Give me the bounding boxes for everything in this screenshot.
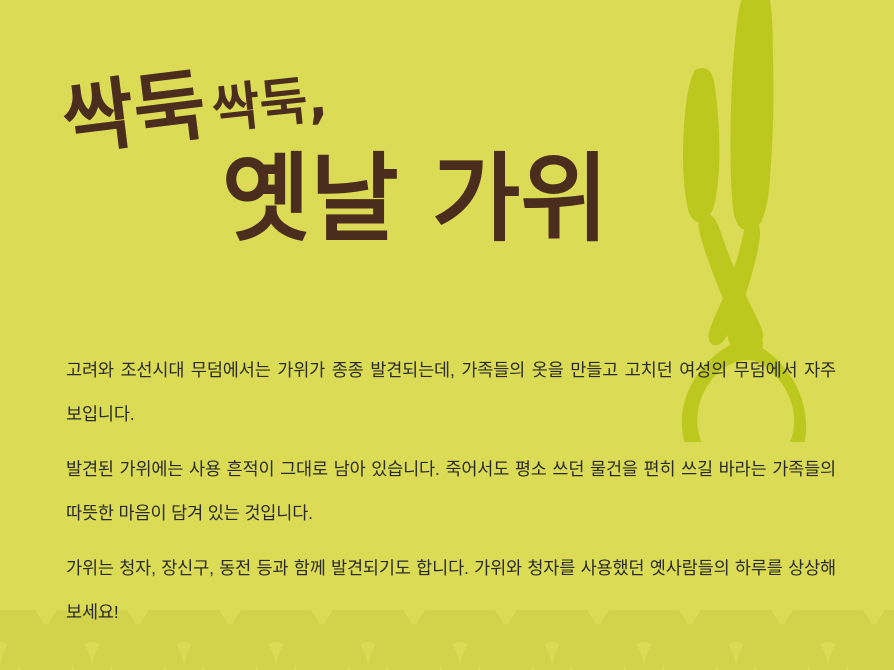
title-line1-small: 싹둑, [209,69,330,141]
poster-canvas: 싹둑 싹둑, 옛날 가위 고려와 조선시대 무덤에서는 가위가 종종 발견되는데… [0,0,894,670]
title-line1-main: 싹둑 [57,60,210,167]
title-artwork: 싹둑 싹둑, 옛날 가위 [0,0,700,270]
paragraph-3: 가위는 청자, 장신구, 동전 등과 함께 발견되기도 합니다. 가위와 청자를… [66,546,836,634]
paragraph-1: 고려와 조선시대 무덤에서는 가위가 종종 발견되는데, 가족들의 옷을 만들고… [66,348,836,436]
title-line2: 옛날 가위 [222,143,609,255]
title-block: 싹둑 싹둑, 옛날 가위 [0,0,700,270]
body-copy: 고려와 조선시대 무덤에서는 가위가 종종 발견되는데, 가족들의 옷을 만들고… [66,348,836,634]
paragraph-2: 발견된 가위에는 사용 흔적이 그대로 남아 있습니다. 죽어서도 평소 쓰던 … [66,447,836,535]
